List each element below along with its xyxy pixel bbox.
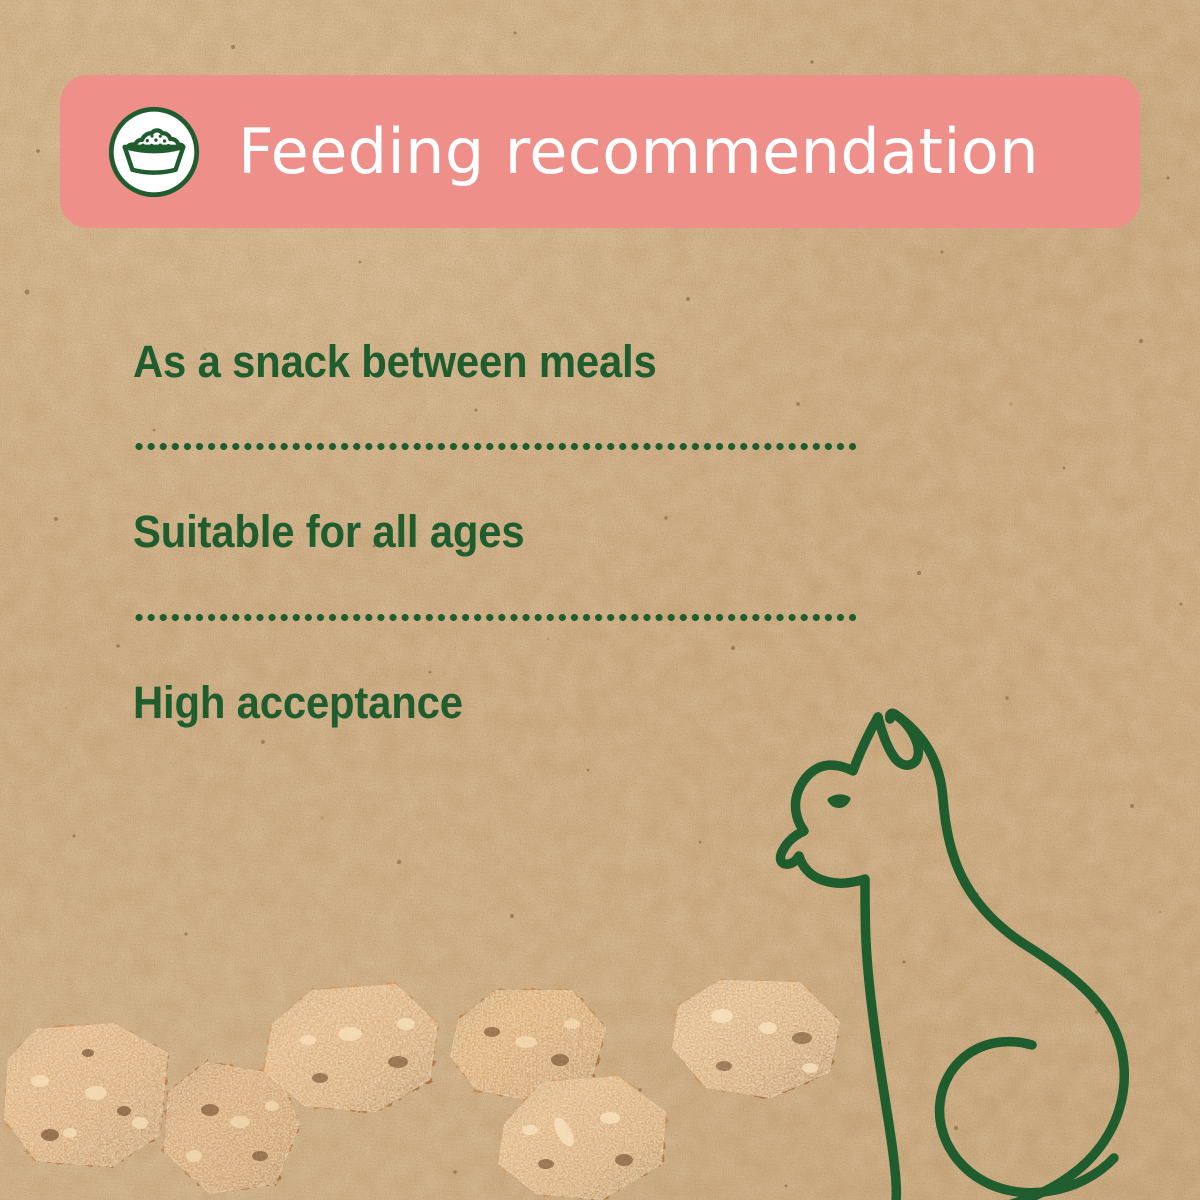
kibble-piece-6 xyxy=(662,968,852,1108)
dotted-divider-2 xyxy=(133,614,856,621)
feeding-recommendation-card: Feeding recommendation As a snack betwee… xyxy=(0,0,1200,1200)
benefit-item-3: High acceptance xyxy=(133,679,812,726)
kibble-piece-3 xyxy=(250,978,450,1118)
food-bowl-icon xyxy=(106,104,202,200)
kibble-piece-5 xyxy=(490,1068,680,1200)
benefits-list: As a snack between meals Suitable for al… xyxy=(133,338,863,726)
benefit-item-2: Suitable for all ages xyxy=(133,508,812,555)
dotted-divider-1 xyxy=(133,443,856,450)
page-title: Feeding recommendation xyxy=(238,121,1039,183)
cat-outline-icon xyxy=(770,695,1200,1200)
feeding-recommendation-banner: Feeding recommendation xyxy=(60,75,1140,228)
benefit-item-1: As a snack between meals xyxy=(133,338,812,385)
